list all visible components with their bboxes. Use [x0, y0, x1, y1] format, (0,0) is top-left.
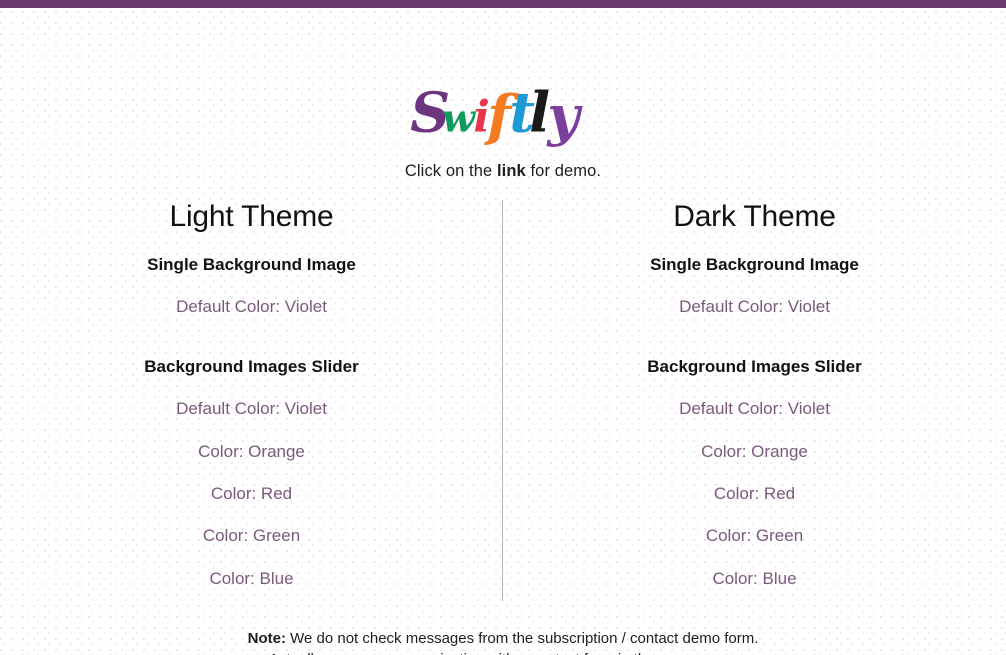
column-title-light: Light Theme: [0, 200, 503, 233]
page-container: S w i f t l y Click on the link for demo…: [0, 8, 1006, 655]
column-title-dark: Dark Theme: [503, 200, 1006, 233]
demo-link-light-slider-green[interactable]: Color: Green: [0, 526, 503, 546]
column-dark-theme: Dark Theme Single Background Image Defau…: [503, 200, 1006, 589]
column-light-theme: Light Theme Single Background Image Defa…: [0, 200, 503, 589]
demo-link-dark-slider-blue[interactable]: Color: Blue: [503, 569, 1006, 589]
demo-link-dark-slider-violet[interactable]: Default Color: Violet: [503, 399, 1006, 419]
demo-link-light-single-violet[interactable]: Default Color: Violet: [0, 297, 503, 317]
swiftly-logo: S w i f t l y: [408, 80, 598, 154]
svg-text:w: w: [442, 96, 477, 141]
demo-link-dark-slider-red[interactable]: Color: Red: [503, 484, 1006, 504]
section-heading-slider-light: Background Images Slider: [0, 357, 503, 377]
svg-text:y: y: [545, 83, 583, 148]
top-accent-bar: [0, 0, 1006, 8]
demo-link-light-slider-red[interactable]: Color: Red: [0, 484, 503, 504]
section-heading-slider-dark: Background Images Slider: [503, 357, 1006, 377]
section-heading-single-bg-light: Single Background Image: [0, 255, 503, 275]
demo-link-dark-single-violet[interactable]: Default Color: Violet: [503, 297, 1006, 317]
tagline-before: Click on the: [405, 162, 497, 180]
note-line-2: Actually, you are communicating with a c…: [0, 649, 1006, 655]
theme-columns: Light Theme Single Background Image Defa…: [0, 200, 1006, 600]
demo-link-light-slider-blue[interactable]: Color: Blue: [0, 569, 503, 589]
tagline-strong: link: [497, 162, 526, 180]
brand-header: S w i f t l y Click on the link for demo…: [0, 80, 1006, 181]
note-line-1: We do not check messages from the subscr…: [286, 630, 758, 647]
tagline-after: for demo.: [526, 162, 601, 180]
section-heading-single-bg-dark: Single Background Image: [503, 255, 1006, 275]
demo-link-dark-slider-orange[interactable]: Color: Orange: [503, 442, 1006, 462]
tagline: Click on the link for demo.: [0, 162, 1006, 181]
footer-note: Note: We do not check messages from the …: [0, 628, 1006, 655]
note-label: Note:: [248, 630, 286, 647]
demo-link-light-slider-orange[interactable]: Color: Orange: [0, 442, 503, 462]
demo-link-dark-slider-green[interactable]: Color: Green: [503, 526, 1006, 546]
demo-link-light-slider-violet[interactable]: Default Color: Violet: [0, 399, 503, 419]
